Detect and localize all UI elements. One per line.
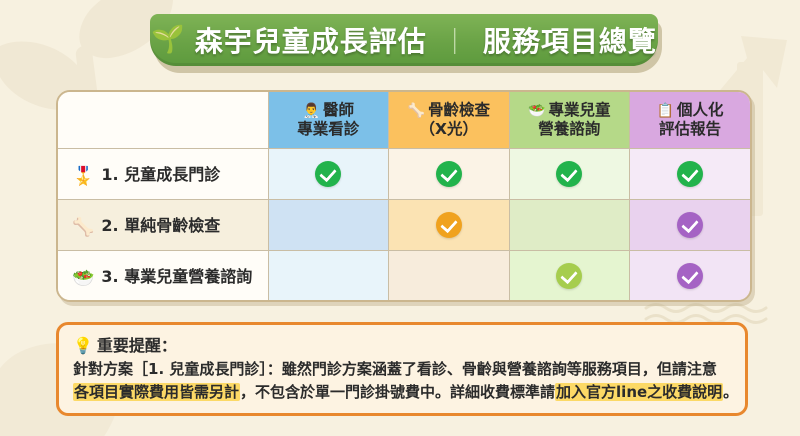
- title-banner: 🌱 森宇兒童成長評估 ｜ 服務項目總覽: [150, 14, 658, 66]
- seedling-icon: 🌱: [151, 26, 185, 53]
- table-row: 🦴2. 單純骨齡檢查: [58, 200, 750, 251]
- check-icon: [556, 161, 582, 187]
- note-highlight-fees: 各項目實際費用皆需另計: [73, 383, 240, 401]
- note-line-2-mid: ，不包含於單一門診掛號費中。詳細收費標準請: [240, 383, 555, 401]
- doctor-icon: 👨‍⚕️: [303, 103, 320, 119]
- cell-nutrition-consult-report: [630, 251, 751, 302]
- cell-nutrition-consult-nutrition: [509, 251, 630, 302]
- table-body: 🎖️1. 兒童成長門診 🦴2. 單純骨齡檢查 🥗3. 專業兒童營養諮詢: [58, 149, 750, 302]
- cell-growth-clinic-bone-age: [389, 149, 510, 200]
- header-col-nutrition-line2: 營養諮詢: [510, 120, 630, 139]
- header-col-doctor-line2: 專業看診: [269, 120, 389, 139]
- note-highlight-line: 加入官方line之收費說明: [555, 383, 723, 401]
- table-header: 👨‍⚕️醫師 專業看診 🦴骨齡檢查 （X光） 🥗專業兒童 營養諮詢: [58, 92, 750, 149]
- cell-growth-clinic-doctor: [268, 149, 389, 200]
- cell-bone-age-only-doctor: [268, 200, 389, 251]
- banner-title-main: 森宇兒童成長評估: [195, 20, 427, 60]
- header-col-report-line2: 評估報告: [630, 120, 750, 139]
- check-icon: [677, 263, 703, 289]
- row-label-growth-clinic-text: 1. 兒童成長門診: [101, 165, 220, 184]
- header-col-bone-age-line1: 骨齡檢查: [428, 101, 490, 119]
- note-line-1: 針對方案［1. 兒童成長門診］：雖然門診方案涵蓋了看診、骨齡與營養諮詢等服務項目…: [73, 358, 733, 381]
- cell-bone-age-only-bone-age: [389, 200, 510, 251]
- bone-icon: 🦴: [72, 217, 94, 238]
- header-col-nutrition: 🥗專業兒童 營養諮詢: [509, 92, 630, 149]
- header-col-doctor-line1: 醫師: [323, 101, 354, 119]
- row-label-nutrition-consult-text: 3. 專業兒童營養諮詢: [101, 267, 252, 286]
- header-col-report-line1: 個人化: [677, 101, 724, 119]
- rosette-icon: 🎖️: [72, 166, 94, 187]
- service-comparison-table: 👨‍⚕️醫師 專業看診 🦴骨齡檢查 （X光） 🥗專業兒童 營養諮詢: [56, 90, 752, 302]
- check-icon: [677, 212, 703, 238]
- row-label-bone-age-only: 🦴2. 單純骨齡檢查: [58, 200, 268, 251]
- header-row: 👨‍⚕️醫師 專業看診 🦴骨齡檢查 （X光） 🥗專業兒童 營養諮詢: [58, 92, 750, 149]
- header-corner-cell: [58, 92, 268, 149]
- salad-icon: 🥗: [528, 103, 545, 119]
- lightbulb-icon: 💡: [73, 336, 93, 355]
- cell-growth-clinic-nutrition: [509, 149, 630, 200]
- header-col-bone-age-line2: （X光）: [389, 120, 509, 139]
- header-col-report: 📋個人化 評估報告: [630, 92, 751, 149]
- salad-icon: 🥗: [72, 268, 94, 289]
- comparison-table: 👨‍⚕️醫師 專業看診 🦴骨齡檢查 （X光） 🥗專業兒童 營養諮詢: [58, 92, 750, 301]
- row-label-bone-age-only-text: 2. 單純骨齡檢查: [101, 216, 220, 235]
- important-note-box: 💡重要提醒： 針對方案［1. 兒童成長門診］：雖然門診方案涵蓋了看診、骨齡與營養…: [56, 322, 748, 416]
- table-row: 🎖️1. 兒童成長門診: [58, 149, 750, 200]
- note-line-2: 各項目實際費用皆需另計，不包含於單一門診掛號費中。詳細收費標準請加入官方line…: [73, 381, 733, 404]
- row-label-growth-clinic: 🎖️1. 兒童成長門診: [58, 149, 268, 200]
- cell-nutrition-consult-doctor: [268, 251, 389, 302]
- banner-body: 🌱 森宇兒童成長評估 ｜ 服務項目總覽: [150, 14, 658, 66]
- cell-bone-age-only-report: [630, 200, 751, 251]
- clipboard-icon: 📋: [657, 103, 674, 119]
- bone-icon: 🦴: [408, 103, 425, 119]
- header-col-bone-age: 🦴骨齡檢查 （X光）: [389, 92, 510, 149]
- cell-nutrition-consult-bone-age: [389, 251, 510, 302]
- header-col-doctor: 👨‍⚕️醫師 專業看診: [268, 92, 389, 149]
- check-icon: [677, 161, 703, 187]
- check-icon: [436, 212, 462, 238]
- banner-title-sub: 服務項目總覽: [483, 20, 657, 60]
- note-body: 針對方案［1. 兒童成長門診］：雖然門診方案涵蓋了看診、骨齡與營養諮詢等服務項目…: [73, 358, 733, 403]
- check-icon: [315, 161, 341, 187]
- header-col-nutrition-line1: 專業兒童: [548, 101, 610, 119]
- table-row: 🥗3. 專業兒童營養諮詢: [58, 251, 750, 302]
- check-icon: [436, 161, 462, 187]
- note-title: 💡重要提醒：: [73, 332, 733, 356]
- check-icon: [556, 263, 582, 289]
- note-line-2-end: 。: [723, 383, 738, 401]
- cell-bone-age-only-nutrition: [509, 200, 630, 251]
- banner-separator: ｜: [442, 22, 468, 59]
- note-title-text: 重要提醒：: [97, 336, 177, 355]
- row-label-nutrition-consult: 🥗3. 專業兒童營養諮詢: [58, 251, 268, 302]
- cell-growth-clinic-report: [630, 149, 751, 200]
